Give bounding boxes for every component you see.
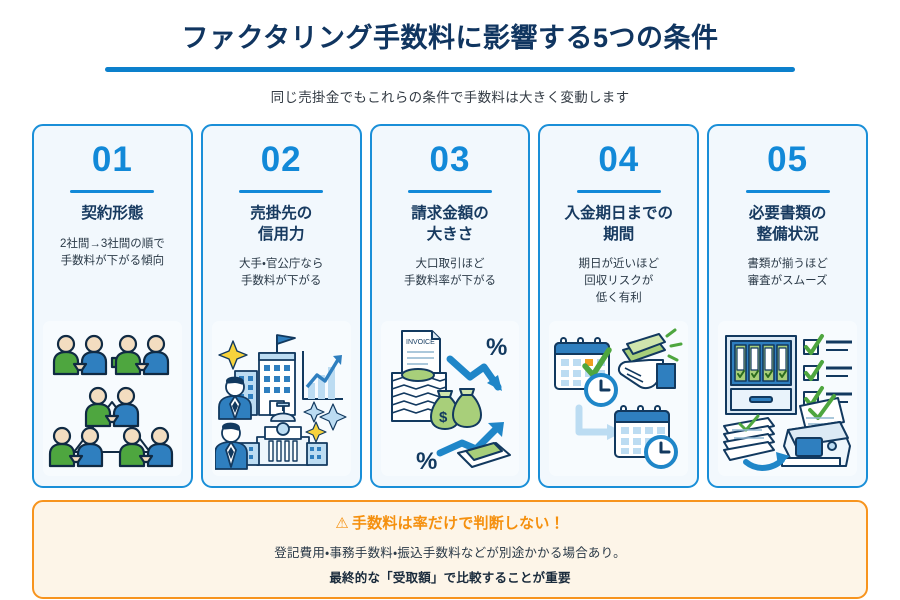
percent-symbol-top: % bbox=[486, 334, 507, 361]
warning-triangle-icon: ⚠ bbox=[335, 515, 349, 532]
card-illustration bbox=[212, 321, 351, 476]
invoice-label: INVOICE bbox=[406, 339, 435, 346]
card-number: 01 bbox=[92, 142, 133, 177]
condition-card-02: 02 売掛先の 信用力 大手・官公庁なら 手数料が下がる bbox=[201, 124, 362, 488]
card-number: 04 bbox=[598, 142, 639, 177]
percent-symbol-bottom: % bbox=[416, 448, 437, 473]
card-illustration bbox=[549, 321, 688, 476]
condition-cards-row: 01 契約形態 2社間→3社間の順で 手数料が下がる傾向 bbox=[32, 124, 868, 488]
card-divider bbox=[408, 190, 492, 193]
card-number: 03 bbox=[430, 142, 471, 177]
dollar-symbol: $ bbox=[439, 409, 448, 426]
page-title: ファクタリング手数料に影響する5つの条件 bbox=[0, 22, 900, 54]
card-divider bbox=[239, 190, 323, 193]
card-number: 02 bbox=[261, 142, 302, 177]
corporate-government-buildings-icon bbox=[215, 325, 347, 473]
card-description: 期日が近いほど 回収リスクが 低く有利 bbox=[579, 256, 660, 306]
condition-card-01: 01 契約形態 2社間→3社間の順で 手数料が下がる傾向 bbox=[32, 124, 193, 488]
title-underline bbox=[105, 67, 795, 72]
card-title: 契約形態 bbox=[81, 204, 143, 224]
card-divider bbox=[70, 190, 154, 193]
condition-card-03: 03 請求金額の 大きさ 大口取引ほど 手数料率が下がる INVOICE bbox=[370, 124, 531, 488]
card-description: 書類が揃うほど 審査がスムーズ bbox=[747, 256, 828, 289]
calendar-clock-cash-icon bbox=[553, 328, 685, 470]
warning-heading: ⚠手数料は率だけで判断しない！ bbox=[44, 512, 856, 533]
warning-box: ⚠手数料は率だけで判断しない！ 登記費用・事務手数料・振込手数料などが別途かかる… bbox=[32, 500, 868, 599]
documents-checklist-scanner-icon bbox=[722, 326, 854, 472]
card-divider bbox=[746, 190, 830, 193]
card-description: 2社間→3社間の順で 手数料が下がる傾向 bbox=[60, 236, 165, 269]
card-divider bbox=[577, 190, 661, 193]
card-title: 請求金額の 大きさ bbox=[411, 204, 489, 245]
condition-card-04: 04 入金期日までの 期間 期日が近いほど 回収リスクが 低く有利 bbox=[538, 124, 699, 488]
page-subtitle: 同じ売掛金でもこれらの条件で手数料は大きく変動します bbox=[0, 86, 900, 106]
card-illustration: INVOICE bbox=[381, 321, 520, 476]
infographic-page: ファクタリング手数料に影響する5つの条件 同じ売掛金でもこれらの条件で手数料は大… bbox=[0, 0, 900, 600]
card-title: 売掛先の 信用力 bbox=[250, 204, 312, 245]
condition-card-05: 05 必要書類の 整備状況 書類が揃うほど 審査がスムーズ bbox=[707, 124, 868, 488]
warning-line-1: 登記費用・事務手数料・振込手数料などが別途かかる場合あり。 bbox=[44, 542, 856, 561]
invoice-cash-percent-icon: INVOICE bbox=[384, 325, 516, 473]
card-number: 05 bbox=[767, 142, 808, 177]
card-illustration bbox=[718, 321, 857, 476]
header: ファクタリング手数料に影響する5つの条件 同じ売掛金でもこれらの条件で手数料は大… bbox=[0, 0, 900, 106]
card-title: 必要書類の 整備状況 bbox=[749, 204, 827, 245]
card-description: 大口取引ほど 手数料率が下がる bbox=[404, 256, 496, 289]
card-title: 入金期日までの 期間 bbox=[565, 204, 674, 245]
handshake-parties-icon bbox=[48, 324, 176, 474]
card-description: 大手・官公庁なら 手数料が下がる bbox=[239, 256, 323, 289]
warning-line-2: 最終的な「受取額」で比較することが重要 bbox=[44, 567, 856, 586]
card-illustration bbox=[43, 321, 182, 476]
warning-heading-text: 手数料は率だけで判断しない！ bbox=[352, 515, 565, 532]
